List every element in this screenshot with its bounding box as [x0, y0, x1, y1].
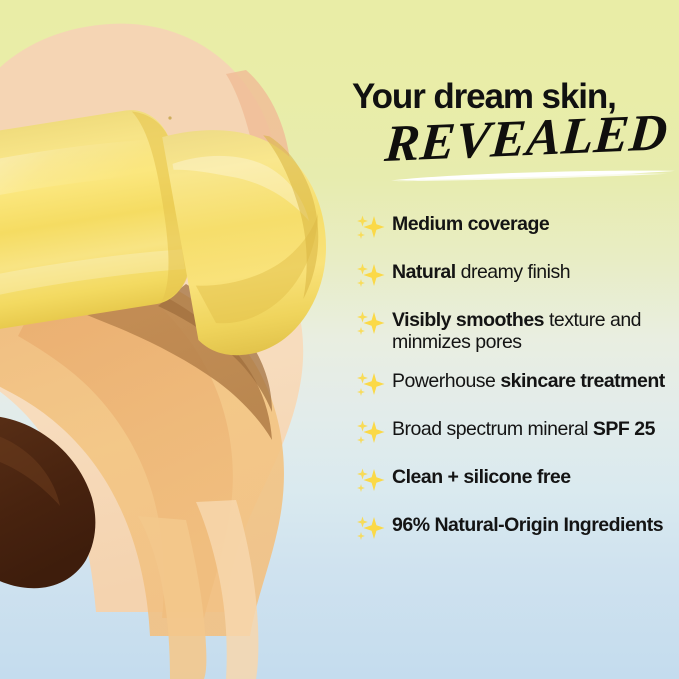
list-item: Broad spectrum mineral SPF 25 — [354, 417, 679, 449]
list-item-label: Natural dreamy finish — [392, 260, 679, 284]
sparkles-icon — [354, 419, 388, 449]
cap-speck — [168, 116, 171, 119]
headline: Your dream skin, REVEALED — [352, 78, 679, 179]
product-art — [0, 0, 360, 679]
product-marketing-image: Your dream skin, REVEALED — [0, 0, 679, 679]
segment-bold: Medium coverage — [392, 213, 549, 235]
list-item-label: 96% Natural-Origin Ingredients — [392, 513, 679, 536]
list-item: Clean + silicone free — [354, 465, 679, 497]
list-item: Natural dreamy finish — [354, 260, 679, 292]
list-item: Medium coverage — [354, 212, 679, 244]
segment-bold: Natural — [392, 261, 456, 283]
sparkles-icon — [354, 515, 388, 545]
segment-bold: SPF 25 — [593, 418, 655, 440]
sparkles-icon — [354, 310, 388, 340]
list-item: Powerhouse skincare treatment — [354, 369, 679, 401]
segment-regular: Broad spectrum mineral — [392, 418, 593, 440]
list-item-label: Visibly smoothes texture and minmizes po… — [392, 308, 679, 353]
sparkles-icon — [354, 262, 388, 292]
segment-bold: 96% Natural-Origin Ingredients — [392, 514, 663, 536]
list-item-label: Medium coverage — [392, 212, 679, 236]
benefits-list: Medium coverage Natural dreamy finish — [354, 212, 679, 545]
headline-line-2-wrap: REVEALED — [352, 117, 679, 179]
brush-underline-icon — [390, 169, 676, 182]
segment-regular: dreamy finish — [456, 261, 570, 283]
list-item: 96% Natural-Origin Ingredients — [354, 513, 679, 545]
segment-bold: Clean + silicone free — [392, 466, 571, 488]
list-item-label: Powerhouse skincare treatment — [392, 369, 679, 392]
copy-column: Your dream skin, REVEALED — [348, 0, 679, 679]
headline-line-2: REVEALED — [383, 105, 670, 173]
segment-bold: Visibly smoothes — [392, 309, 544, 331]
segment-regular: Powerhouse — [392, 370, 500, 392]
list-item-label: Broad spectrum mineral SPF 25 — [392, 417, 679, 440]
segment-bold: skincare treatment — [500, 370, 664, 392]
list-item: Visibly smoothes texture and minmizes po… — [354, 308, 679, 353]
sparkles-icon — [354, 467, 388, 497]
sparkles-icon — [354, 371, 388, 401]
sparkles-icon — [354, 214, 388, 244]
list-item-label: Clean + silicone free — [392, 465, 679, 489]
